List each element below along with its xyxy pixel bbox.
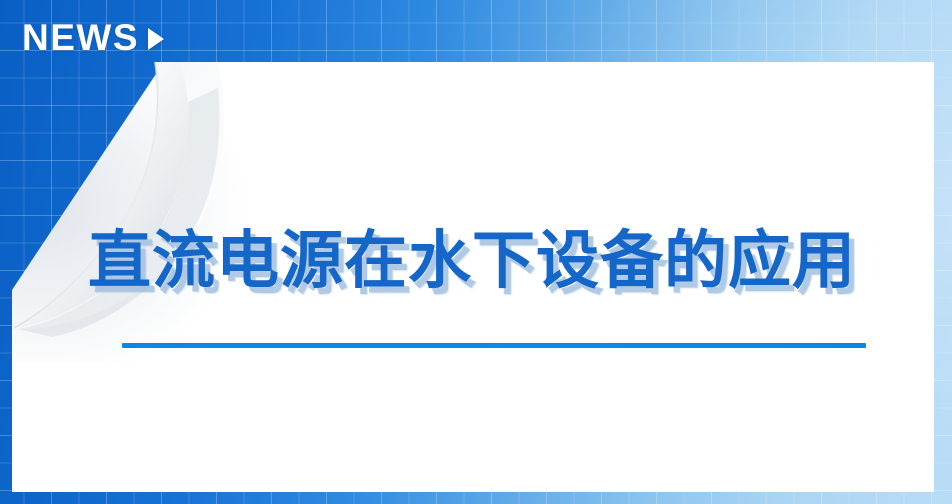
news-label: NEWS	[22, 19, 139, 56]
news-banner: NEWS 直流电源在水下设备的应用	[0, 0, 952, 504]
horizontal-rule	[122, 343, 866, 348]
headline-block: 直流电源在水下设备的应用	[88, 228, 918, 294]
play-triangle-icon	[148, 28, 164, 50]
page-title: 直流电源在水下设备的应用	[88, 228, 918, 294]
news-kicker: NEWS	[22, 19, 164, 56]
